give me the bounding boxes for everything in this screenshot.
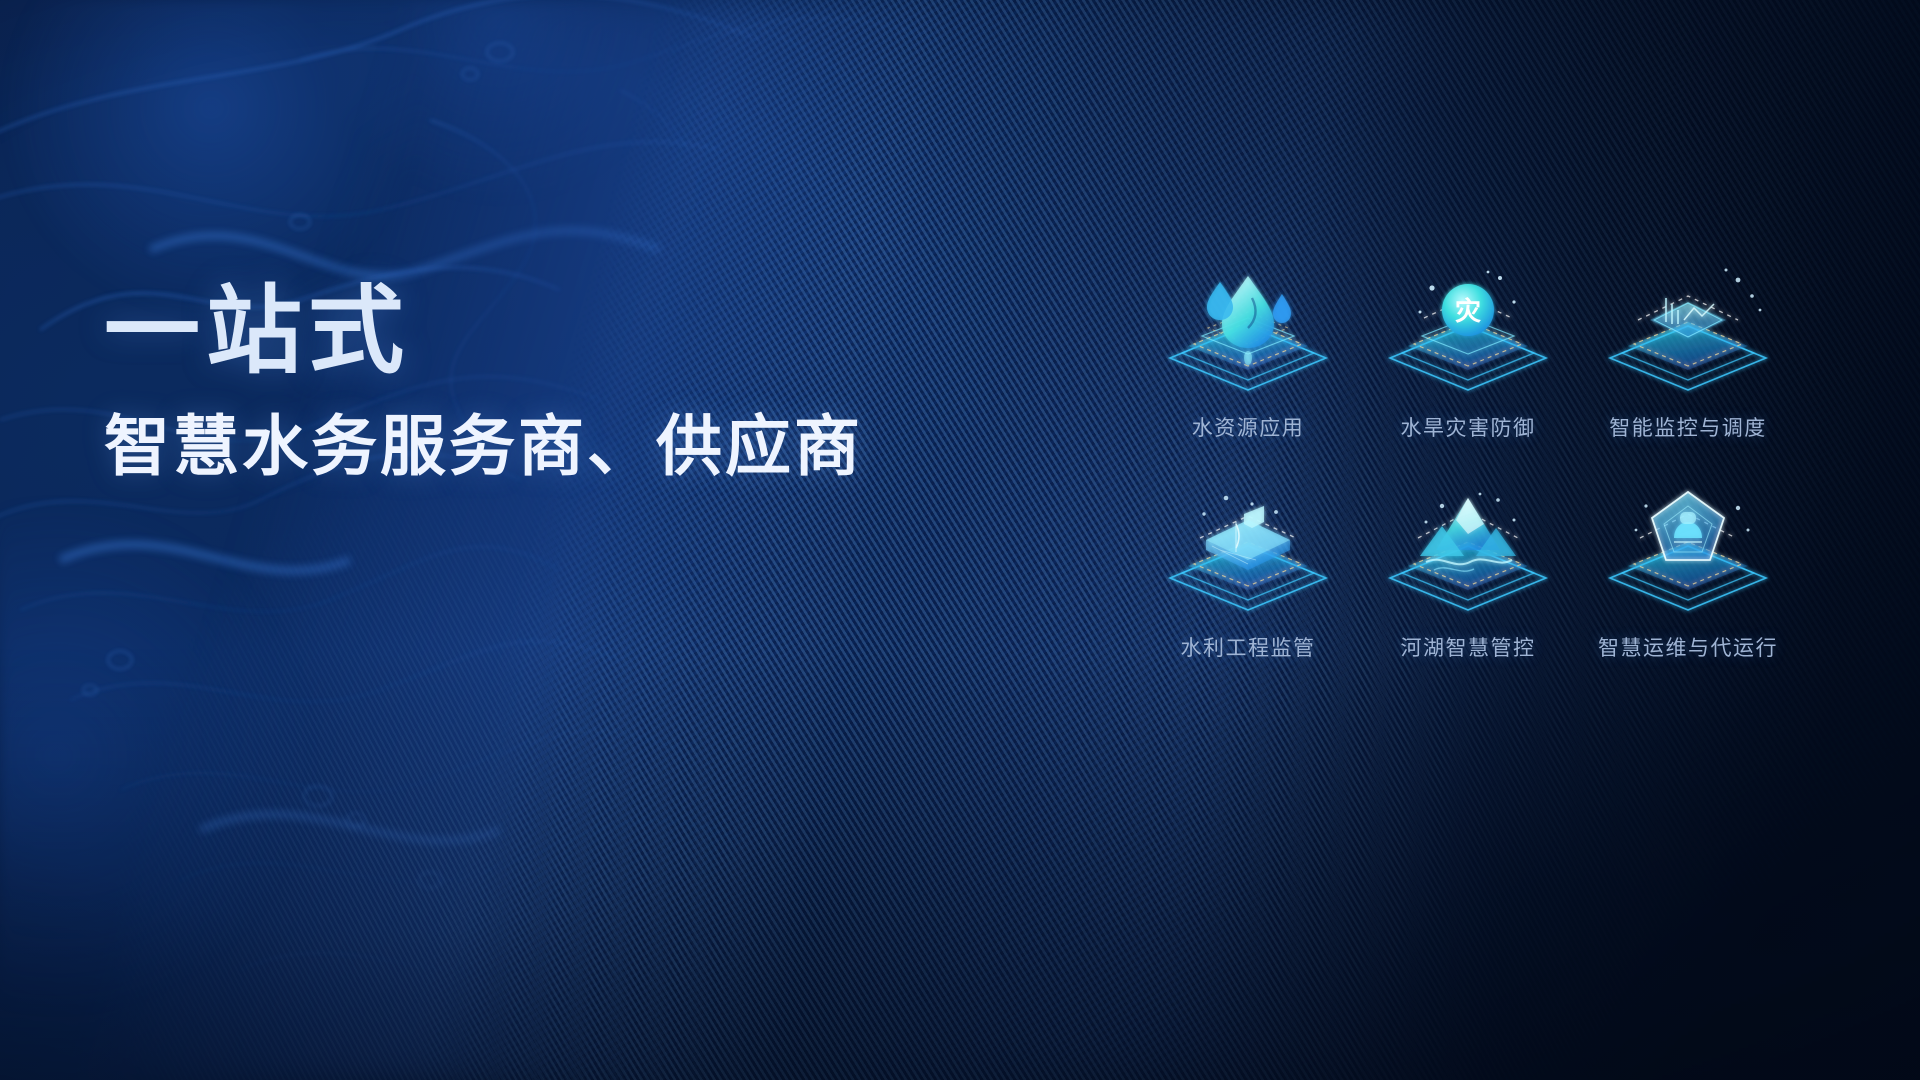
headline-block: 一站式 智慧水务服务商、供应商 bbox=[104, 280, 984, 484]
page-subtitle: 智慧水务服务商、供应商 bbox=[104, 410, 984, 484]
shield-pentagon-icon bbox=[1588, 478, 1788, 638]
disaster-badge-icon: 灾 bbox=[1368, 258, 1568, 418]
capability-grid: 水资源应用 bbox=[1138, 258, 1798, 698]
monitor-dashboard-icon bbox=[1588, 258, 1788, 418]
capability-item-water-resource[interactable]: 水资源应用 bbox=[1138, 258, 1358, 478]
capability-item-flood-drought[interactable]: 灾 水旱灾害防御 bbox=[1358, 258, 1578, 478]
disaster-badge-text: 灾 bbox=[1455, 296, 1481, 326]
capability-item-smart-monitoring[interactable]: 智能监控与调度 bbox=[1578, 258, 1798, 478]
capability-item-river-lake-control[interactable]: 河湖智慧管控 bbox=[1358, 478, 1578, 698]
dam-structure-icon bbox=[1148, 478, 1348, 638]
mountain-river-icon bbox=[1368, 478, 1568, 638]
capability-item-hydraulic-supervision[interactable]: 水利工程监管 bbox=[1138, 478, 1358, 698]
page-title: 一站式 bbox=[104, 280, 984, 384]
slide-root: 一站式 智慧水务服务商、供应商 bbox=[0, 0, 1920, 1080]
capability-item-smart-ops[interactable]: 智慧运维与代运行 bbox=[1578, 478, 1798, 698]
water-droplet-icon bbox=[1148, 258, 1348, 418]
